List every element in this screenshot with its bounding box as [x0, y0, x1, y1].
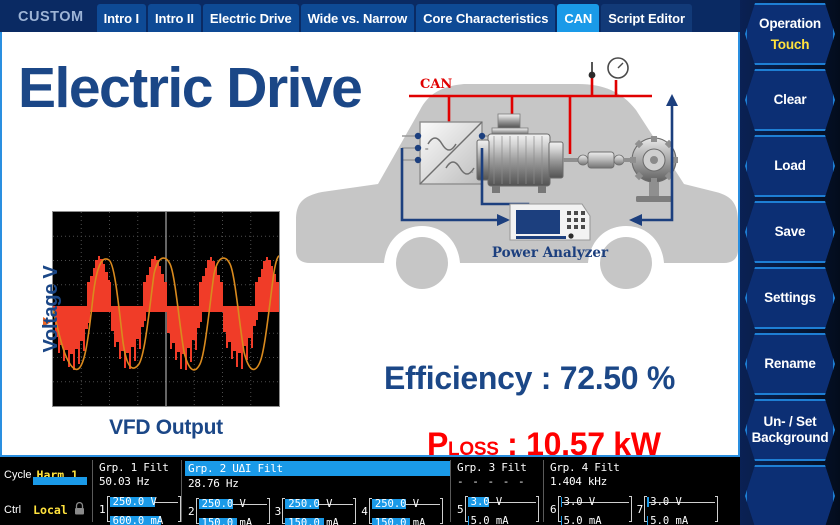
group-3-block[interactable]: Grp. 3 Filt - - - - - 5 3.0 V 5.0 m [451, 457, 543, 525]
group-4-header: Grp. 4 Filt [550, 461, 730, 474]
group-4-frequency: 1.404 kHz [550, 475, 730, 488]
channel-3-current: 150.0 mA [285, 517, 339, 525]
softkey-settings-label: Settings [764, 290, 816, 306]
application-window: CUSTOM Intro I Intro II Electric Drive W… [0, 0, 840, 525]
channel-3-bars: 250.0 V 150.0 mA [285, 492, 353, 525]
channel-7-current: 5.0 mA [647, 515, 688, 525]
channel-6-number: 6 [550, 503, 557, 516]
scope-y-axis-label: Voltage V [40, 211, 63, 407]
ploss-prefix: P [427, 426, 448, 457]
channel-5-bars: 3.0 V 5.0 mA [468, 490, 536, 525]
diagram-svg: CAN = ~ [292, 44, 740, 329]
channel-2-bars: 250.0 V 150.0 mA [199, 492, 267, 525]
softkey-save[interactable]: Save [745, 201, 835, 263]
softkey-operation-value: Touch [771, 37, 810, 53]
can-label: CAN [420, 77, 452, 92]
channel-6-current-bar [561, 516, 562, 525]
custom-menu-label[interactable]: CUSTOM [0, 9, 97, 32]
softkey-empty[interactable] [745, 465, 835, 525]
softkey-load-label: Load [774, 158, 805, 174]
channel-4-bracket-right [440, 498, 443, 524]
ctrl-row[interactable]: Ctrl Local [4, 497, 92, 522]
softkey-settings[interactable]: Settings [745, 267, 835, 329]
ctrl-label: Ctrl [4, 504, 21, 516]
svg-text:~: ~ [470, 170, 474, 176]
softkey-clear[interactable]: Clear [745, 69, 835, 131]
channel-7[interactable]: 7 3.0 V 5.0 mA [637, 490, 719, 525]
softkey-un-set-background-label: Un- / Set Background [752, 414, 829, 445]
group-3-channels: 5 3.0 V 5.0 mA [457, 490, 543, 525]
channel-6[interactable]: 6 3.0 V 5.0 mA [550, 490, 632, 525]
channel-1[interactable]: 1 250.0 V 600.0 mA [99, 490, 181, 525]
channel-1-voltage: 250.0 V [110, 496, 157, 508]
softkey-rename[interactable]: Rename [745, 333, 835, 395]
tab-intro-1[interactable]: Intro I [97, 4, 146, 32]
channel-5-current: 5.0 mA [468, 515, 509, 525]
channel-2-bracket-right [267, 498, 270, 524]
channel-6-voltage: 3.0 V [561, 496, 596, 508]
group-2-header: Grp. 2 UΔI Filt [185, 461, 450, 476]
channel-4-bars: 250.0 V 150.0 mA [372, 492, 440, 525]
scope-svg [53, 212, 279, 406]
tab-script-editor[interactable]: Script Editor [601, 4, 692, 32]
channel-4-current: 150.0 mA [372, 517, 426, 525]
group-3-frequency: - - - - - [457, 475, 543, 488]
tab-intro-2[interactable]: Intro II [148, 4, 201, 32]
tab-can[interactable]: CAN [557, 4, 599, 32]
channel-3-number: 3 [275, 505, 282, 518]
softkey-operation-label: Operation [759, 16, 821, 32]
channel-5-current-bar [468, 516, 469, 525]
channel-1-number: 1 [99, 503, 106, 516]
channel-7-voltage: 3.0 V [647, 496, 682, 508]
channel-4[interactable]: 4 250.0 V 150.0 mA [361, 492, 443, 525]
power-analyzer-label: Power Analyzer [492, 245, 609, 261]
electric-drive-diagram: CAN = ~ [292, 44, 740, 329]
scope-screen[interactable] [52, 211, 280, 407]
group-1-channels: 1 250.0 V 600.0 mA [99, 490, 181, 525]
channel-7-number: 7 [637, 503, 644, 516]
group-4-channels: 6 3.0 V 5.0 mA [550, 490, 730, 525]
channel-7-current-bar [647, 516, 648, 525]
soft-key-sidebar: Operation Touch Clear Load Save Settings… [740, 0, 840, 525]
channel-6-bracket-right [629, 496, 632, 522]
group-1-header: Grp. 1 Filt [99, 461, 181, 474]
channel-7-bracket-right [715, 496, 718, 522]
softkey-rename-label: Rename [764, 356, 815, 372]
ploss-subscript: LOSS [448, 439, 499, 457]
channel-2-current: 150.0 mA [199, 517, 253, 525]
vfd-waveform-chart: Voltage V VFD Output [52, 211, 280, 407]
channel-5-number: 5 [457, 503, 464, 516]
channel-2-number: 2 [188, 505, 195, 518]
tab-electric-drive[interactable]: Electric Drive [203, 4, 299, 32]
group-2-frequency: 28.76 Hz [188, 477, 450, 490]
channel-4-number: 4 [361, 505, 368, 518]
channel-1-bracket-right [178, 496, 181, 522]
channel-3-voltage: 250.0 V [285, 498, 332, 510]
channel-6-voltage-bar [561, 497, 562, 507]
softkey-load[interactable]: Load [745, 135, 835, 197]
softkey-clear-label: Clear [774, 92, 807, 108]
status-bar: Cycle Harm 1 Ctrl Local Grp. 1 Filt 50.0… [0, 457, 740, 525]
group-4-block[interactable]: Grp. 4 Filt 1.404 kHz 6 3.0 V 5.0 [544, 457, 730, 525]
channel-4-voltage: 250.0 V [372, 498, 419, 510]
channel-6-bars: 3.0 V 5.0 mA [561, 490, 629, 525]
inverter-unit: = ~ [420, 122, 482, 184]
channel-7-bars: 3.0 V 5.0 mA [647, 490, 715, 525]
group-2-block[interactable]: Grp. 2 UΔI Filt 28.76 Hz 2 250.0 V [182, 457, 450, 525]
channel-5[interactable]: 5 3.0 V 5.0 mA [457, 490, 539, 525]
channel-3[interactable]: 3 250.0 V 150.0 mA [275, 492, 357, 525]
main-content-pane: Electric Drive [0, 32, 740, 457]
status-left-block: Cycle Harm 1 Ctrl Local [0, 457, 92, 525]
group-1-frequency: 50.03 Hz [99, 475, 181, 488]
tab-wide-vs-narrow[interactable]: Wide vs. Narrow [301, 4, 415, 32]
channel-6-current: 5.0 mA [561, 515, 602, 525]
ploss-value: : 10.57 kW [499, 426, 661, 457]
tab-core-characteristics[interactable]: Core Characteristics [416, 4, 555, 32]
tab-bar: CUSTOM Intro I Intro II Electric Drive W… [0, 0, 740, 32]
group-1-block[interactable]: Grp. 1 Filt 50.03 Hz 1 250.0 V 60 [93, 457, 181, 525]
power-loss-readout: PLOSS : 10.57 kW [427, 426, 661, 457]
softkey-operation[interactable]: Operation Touch [745, 3, 835, 65]
scope-x-axis-label: VFD Output [52, 416, 280, 440]
cycle-label: Cycle [4, 469, 32, 481]
softkey-save-label: Save [775, 224, 806, 240]
ctrl-value: Local [33, 503, 68, 517]
channel-5-voltage: 3.0 V [468, 496, 503, 508]
channel-3-bracket-right [353, 498, 356, 524]
group-3-header: Grp. 3 Filt [457, 461, 543, 474]
group-2-channels: 2 250.0 V 150.0 mA [188, 492, 450, 525]
channel-2-voltage: 250.0 V [199, 498, 246, 510]
efficiency-readout: Efficiency : 72.50 % [384, 360, 675, 397]
channel-1-current: 600.0 mA [110, 515, 164, 525]
channel-7-voltage-bar [647, 497, 648, 507]
sensor-icons [589, 58, 628, 78]
channel-5-bracket-right [536, 496, 539, 522]
svg-text:=: = [425, 147, 429, 153]
power-analyzer-device [510, 204, 590, 240]
lock-icon [74, 500, 85, 519]
channel-2[interactable]: 2 250.0 V 150.0 mA [188, 492, 270, 525]
cycle-progress-bar [33, 477, 87, 485]
softkey-un-set-background[interactable]: Un- / Set Background [745, 399, 835, 461]
channel-1-bars: 250.0 V 600.0 mA [110, 490, 178, 525]
